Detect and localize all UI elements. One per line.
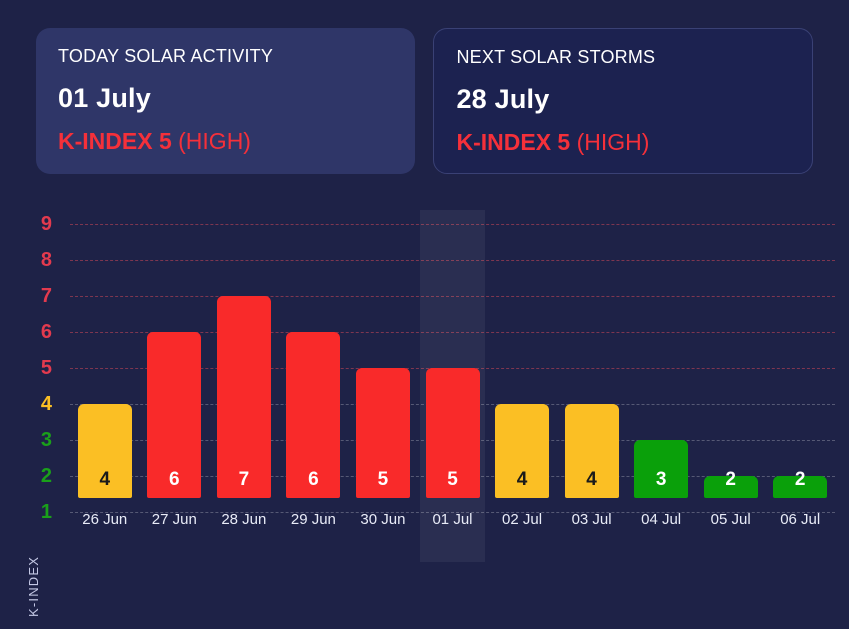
bar[interactable]: 2 (704, 476, 758, 498)
x-tick-label: 03 Jul (557, 511, 627, 528)
x-tick-label: 06 Jul (765, 511, 835, 528)
y-axis-tick-labels: 987654321 (30, 210, 52, 516)
x-tick-label: 04 Jul (626, 511, 696, 528)
bar[interactable]: 6 (286, 332, 340, 498)
card-today-solar-activity: TODAY SOLAR ACTIVITY 01 July K-INDEX 5 (… (36, 28, 415, 174)
bar[interactable]: 2 (773, 476, 827, 498)
bar[interactable]: 6 (147, 332, 201, 498)
y-tick-2: 2 (41, 466, 52, 486)
x-tick-label: 27 Jun (140, 511, 210, 528)
y-tick-6: 6 (41, 322, 52, 342)
card-title: TODAY SOLAR ACTIVITY (58, 46, 393, 67)
y-axis-title: K-INDEX (26, 531, 40, 617)
card-kindex-value: K-INDEX 5 (456, 129, 570, 155)
card-title: NEXT SOLAR STORMS (456, 47, 790, 68)
bar-value-label: 6 (169, 470, 180, 498)
card-kindex-value: K-INDEX 5 (58, 128, 172, 154)
card-kindex-level: (HIGH) (577, 129, 650, 155)
summary-cards: TODAY SOLAR ACTIVITY 01 July K-INDEX 5 (… (36, 28, 813, 174)
x-tick-label: 05 Jul (696, 511, 766, 528)
bar-value-label: 3 (656, 470, 667, 498)
bar-value-label: 7 (239, 470, 250, 498)
y-tick-5: 5 (41, 358, 52, 378)
y-tick-3: 3 (41, 430, 52, 450)
x-axis-tick-labels: 26 Jun27 Jun28 Jun29 Jun30 Jun01 Jul02 J… (70, 511, 835, 535)
bar[interactable]: 7 (217, 296, 271, 498)
card-kindex: K-INDEX 5 (HIGH) (456, 129, 790, 156)
x-tick-label: 01 Jul (418, 511, 488, 528)
card-next-solar-storms: NEXT SOLAR STORMS 28 July K-INDEX 5 (HIG… (433, 28, 813, 174)
y-tick-7: 7 (41, 286, 52, 306)
x-tick-label: 29 Jun (279, 511, 349, 528)
x-tick-label: 28 Jun (209, 511, 279, 528)
bar-value-label: 4 (99, 470, 110, 498)
x-tick-label: 30 Jun (348, 511, 418, 528)
bar[interactable]: 4 (495, 404, 549, 498)
x-tick-label: 02 Jul (487, 511, 557, 528)
card-date: 01 July (58, 83, 393, 114)
bar-value-label: 6 (308, 470, 319, 498)
bar-value-label: 4 (586, 470, 597, 498)
card-date: 28 July (456, 84, 790, 115)
bar-value-label: 2 (725, 470, 736, 498)
bar-value-label: 5 (447, 470, 458, 498)
card-kindex-level: (HIGH) (178, 128, 251, 154)
bar[interactable]: 4 (78, 404, 132, 498)
plot-area: 46765544322 (70, 210, 835, 516)
k-index-bar-chart: K-INDEX 987654321 46765544322 26 Jun27 J… (0, 196, 849, 629)
bar-series: 46765544322 (70, 210, 835, 516)
bar[interactable]: 5 (356, 368, 410, 498)
y-tick-1: 1 (41, 502, 52, 522)
bar-value-label: 2 (795, 470, 806, 498)
bar[interactable]: 4 (565, 404, 619, 498)
bar-value-label: 5 (378, 470, 389, 498)
bar-value-label: 4 (517, 470, 528, 498)
x-tick-label: 26 Jun (70, 511, 140, 528)
y-tick-4: 4 (41, 394, 52, 414)
card-kindex: K-INDEX 5 (HIGH) (58, 128, 393, 155)
y-tick-8: 8 (41, 250, 52, 270)
bar[interactable]: 3 (634, 440, 688, 498)
bar[interactable]: 5 (426, 368, 480, 498)
y-tick-9: 9 (41, 214, 52, 234)
